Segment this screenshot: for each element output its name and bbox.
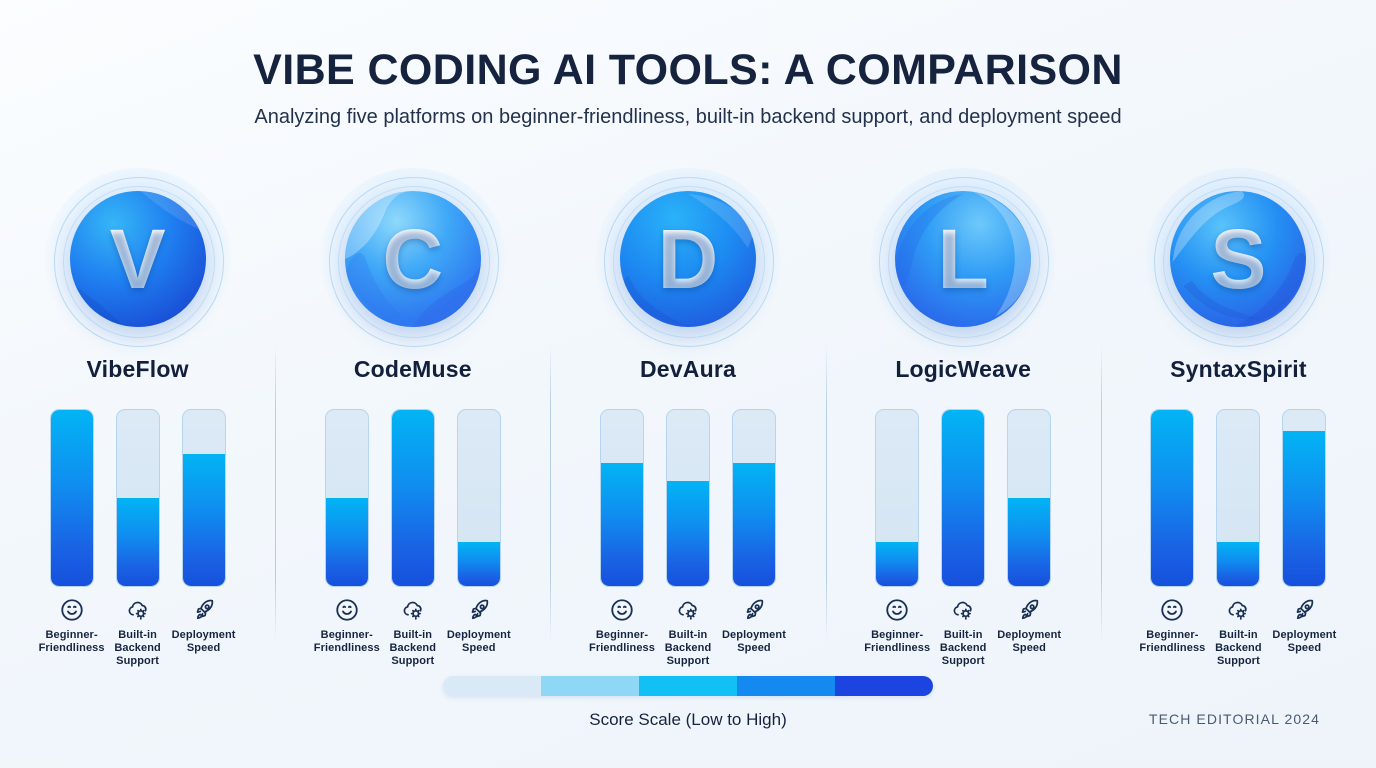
platform-column: CCodeMuseBeginner-FriendlinessBuilt-in B…	[275, 168, 550, 668]
platform-name: LogicWeave	[895, 356, 1031, 383]
platform-bars	[1150, 409, 1326, 587]
smiley-face-icon	[334, 597, 360, 623]
metric-label: Deployment Speed	[985, 629, 1073, 655]
metric-beginner: Beginner-Friendliness	[600, 597, 644, 655]
rocket-icon	[1291, 597, 1317, 623]
vibeflow-logo: V	[45, 168, 231, 350]
bar-fill-deployment	[183, 454, 225, 586]
cloud-gear-icon	[125, 597, 151, 623]
logo-letter: L	[938, 217, 989, 301]
cloud-gear-icon	[400, 597, 426, 623]
metric-beginner: Beginner-Friendliness	[325, 597, 369, 655]
bar-track-deployment	[1282, 409, 1326, 587]
metric-backend: Built-in Backend Support	[1216, 597, 1260, 668]
logo-disc: D	[620, 191, 756, 327]
bar-track-deployment	[732, 409, 776, 587]
bar-fill-deployment	[1283, 431, 1325, 586]
metric-label: Deployment Speed	[160, 629, 248, 655]
bar-track-deployment	[457, 409, 501, 587]
score-scale-segment-5	[835, 676, 933, 696]
bar-fill-beginner	[876, 542, 918, 586]
metric-deployment: Deployment Speed	[1007, 597, 1051, 655]
bar-fill-deployment	[1008, 498, 1050, 586]
metric-label: Deployment Speed	[1260, 629, 1348, 655]
score-scale-segment-3	[639, 676, 737, 696]
bar-track-backend	[941, 409, 985, 587]
smiley-face-icon	[884, 597, 910, 623]
metric-label: Deployment Speed	[710, 629, 798, 655]
logicweave-logo: L	[870, 168, 1056, 350]
platform-column: SSyntaxSpiritBeginner-FriendlinessBuilt-…	[1101, 168, 1376, 668]
platform-name: CodeMuse	[354, 356, 472, 383]
platform-columns: VVibeFlowBeginner-FriendlinessBuilt-in B…	[0, 168, 1376, 668]
score-scale-segment-2	[541, 676, 639, 696]
platform-metrics: Beginner-FriendlinessBuilt-in Backend Su…	[875, 597, 1051, 668]
smiley-face-icon	[59, 597, 85, 623]
metric-backend: Built-in Backend Support	[666, 597, 710, 668]
bar-fill-beginner	[51, 410, 93, 586]
bar-track-backend	[1216, 409, 1260, 587]
platform-name: DevAura	[640, 356, 736, 383]
bar-fill-deployment	[733, 463, 775, 586]
bar-fill-backend	[942, 410, 984, 586]
bar-track-beginner	[50, 409, 94, 587]
platform-metrics: Beginner-FriendlinessBuilt-in Backend Su…	[325, 597, 501, 668]
bar-fill-backend	[117, 498, 159, 586]
bar-fill-deployment	[458, 542, 500, 586]
logo-disc: C	[345, 191, 481, 327]
smiley-face-icon	[609, 597, 635, 623]
cloud-gear-icon	[1225, 597, 1251, 623]
logo-letter: D	[658, 217, 719, 301]
metric-beginner: Beginner-Friendliness	[875, 597, 919, 655]
rocket-icon	[466, 597, 492, 623]
logo-disc: V	[70, 191, 206, 327]
bar-fill-backend	[667, 481, 709, 587]
metric-backend: Built-in Backend Support	[116, 597, 160, 668]
metric-label: Deployment Speed	[435, 629, 523, 655]
bar-track-beginner	[325, 409, 369, 587]
bar-fill-backend	[1217, 542, 1259, 586]
bar-track-backend	[116, 409, 160, 587]
rocket-icon	[191, 597, 217, 623]
infographic-page: VIBE CODING AI TOOLS: A COMPARISON Analy…	[0, 0, 1376, 768]
bar-track-beginner	[600, 409, 644, 587]
bar-track-beginner	[1150, 409, 1194, 587]
metric-beginner: Beginner-Friendliness	[1150, 597, 1194, 655]
score-scale-bar	[443, 676, 933, 696]
score-scale-segment-4	[737, 676, 835, 696]
footer-credit: TECH EDITORIAL 2024	[1149, 711, 1320, 727]
bar-fill-beginner	[326, 498, 368, 586]
page-title: VIBE CODING AI TOOLS: A COMPARISON	[0, 46, 1376, 95]
metric-deployment: Deployment Speed	[457, 597, 501, 655]
metric-deployment: Deployment Speed	[182, 597, 226, 655]
bar-track-backend	[391, 409, 435, 587]
cloud-gear-icon	[950, 597, 976, 623]
smiley-face-icon	[1159, 597, 1185, 623]
bar-track-deployment	[1007, 409, 1051, 587]
platform-metrics: Beginner-FriendlinessBuilt-in Backend Su…	[1150, 597, 1326, 668]
platform-bars	[875, 409, 1051, 587]
platform-name: SyntaxSpirit	[1170, 356, 1307, 383]
metric-backend: Built-in Backend Support	[391, 597, 435, 668]
bar-fill-backend	[392, 410, 434, 586]
score-scale-segment-1	[443, 676, 541, 696]
syntaxspirit-logo: S	[1145, 168, 1331, 350]
cloud-gear-icon	[675, 597, 701, 623]
page-subtitle: Analyzing five platforms on beginner-fri…	[0, 106, 1376, 129]
platform-column: LLogicWeaveBeginner-FriendlinessBuilt-in…	[826, 168, 1101, 668]
platform-bars	[325, 409, 501, 587]
bar-fill-beginner	[1151, 410, 1193, 586]
platform-name: VibeFlow	[87, 356, 189, 383]
rocket-icon	[1016, 597, 1042, 623]
logo-disc: L	[895, 191, 1031, 327]
platform-column: DDevAuraBeginner-FriendlinessBuilt-in Ba…	[550, 168, 825, 668]
platform-metrics: Beginner-FriendlinessBuilt-in Backend Su…	[600, 597, 776, 668]
metric-backend: Built-in Backend Support	[941, 597, 985, 668]
devaura-logo: D	[595, 168, 781, 350]
logo-letter: C	[382, 217, 443, 301]
platform-metrics: Beginner-FriendlinessBuilt-in Backend Su…	[50, 597, 226, 668]
logo-letter: V	[110, 217, 166, 301]
platform-column: VVibeFlowBeginner-FriendlinessBuilt-in B…	[0, 168, 275, 668]
codemuse-logo: C	[320, 168, 506, 350]
logo-disc: S	[1170, 191, 1306, 327]
metric-beginner: Beginner-Friendliness	[50, 597, 94, 655]
bar-track-deployment	[182, 409, 226, 587]
metric-deployment: Deployment Speed	[732, 597, 776, 655]
metric-deployment: Deployment Speed	[1282, 597, 1326, 655]
bar-track-beginner	[875, 409, 919, 587]
platform-bars	[50, 409, 226, 587]
bar-track-backend	[666, 409, 710, 587]
bar-fill-beginner	[601, 463, 643, 586]
logo-letter: S	[1210, 217, 1266, 301]
rocket-icon	[741, 597, 767, 623]
platform-bars	[600, 409, 776, 587]
